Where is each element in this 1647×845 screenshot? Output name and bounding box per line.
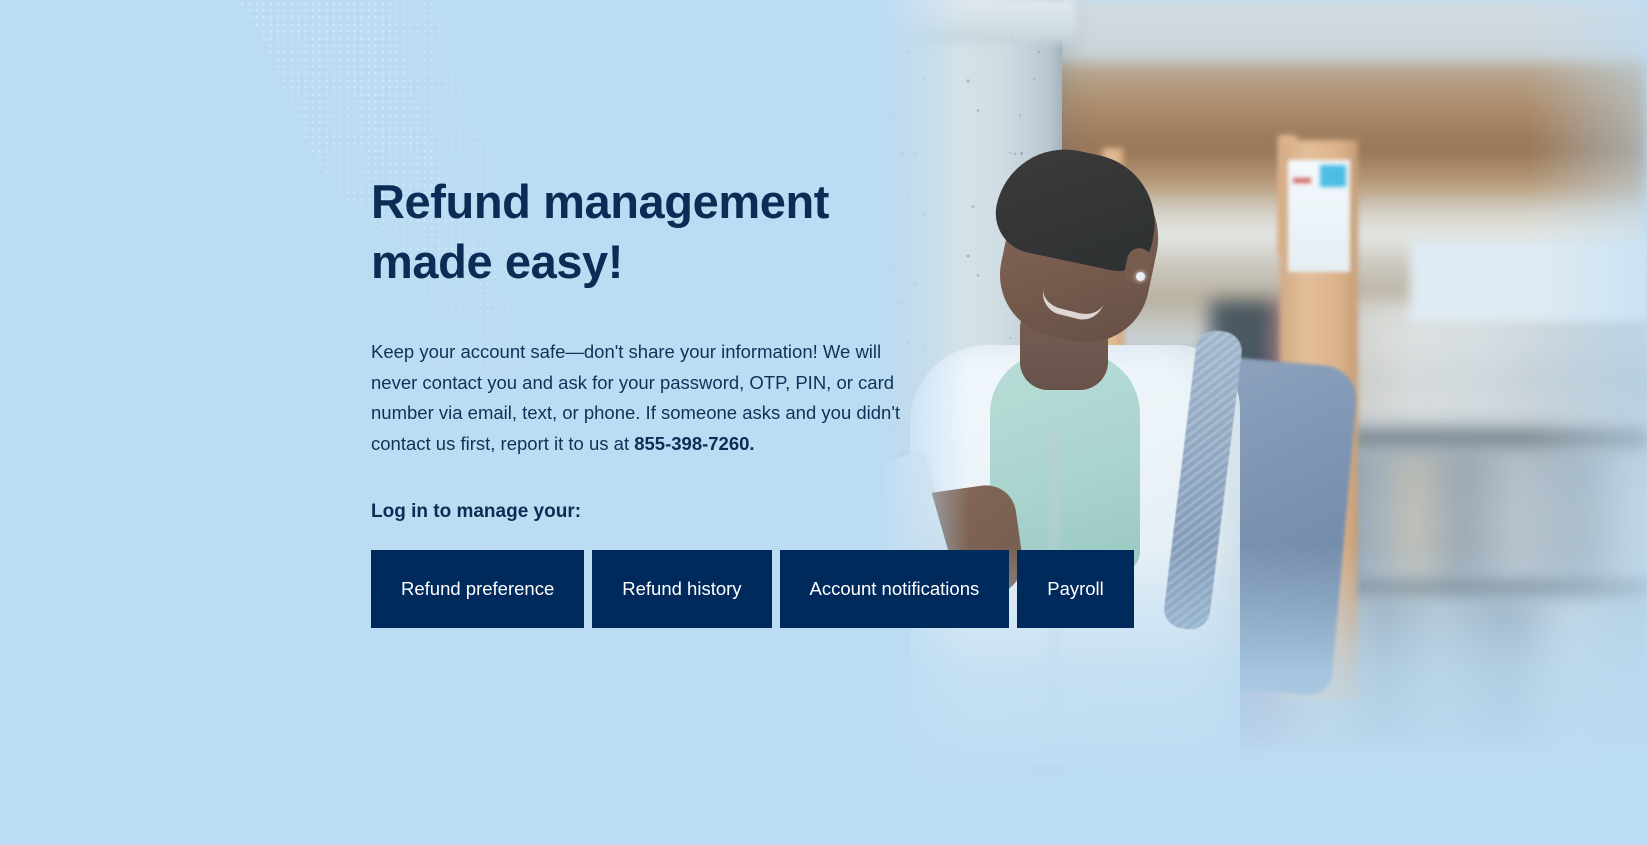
hero-photo — [880, 0, 1647, 845]
page-title: Refund management made easy! — [371, 172, 931, 292]
refund-management-hero: Refund management made easy! Keep your a… — [0, 0, 1647, 845]
security-notice: Keep your account safe—don't share your … — [371, 337, 927, 459]
refund-history-button[interactable]: Refund history — [592, 550, 771, 628]
payroll-button[interactable]: Payroll — [1017, 550, 1134, 628]
support-phone-number: 855-398-7260. — [634, 433, 754, 454]
hero-content: Refund management made easy! Keep your a… — [371, 0, 971, 845]
account-notifications-button[interactable]: Account notifications — [780, 550, 1010, 628]
refund-preference-button[interactable]: Refund preference — [371, 550, 584, 628]
login-action-buttons: Refund preference Refund history Account… — [371, 550, 1134, 628]
login-prompt-label: Log in to manage your: — [371, 501, 581, 523]
